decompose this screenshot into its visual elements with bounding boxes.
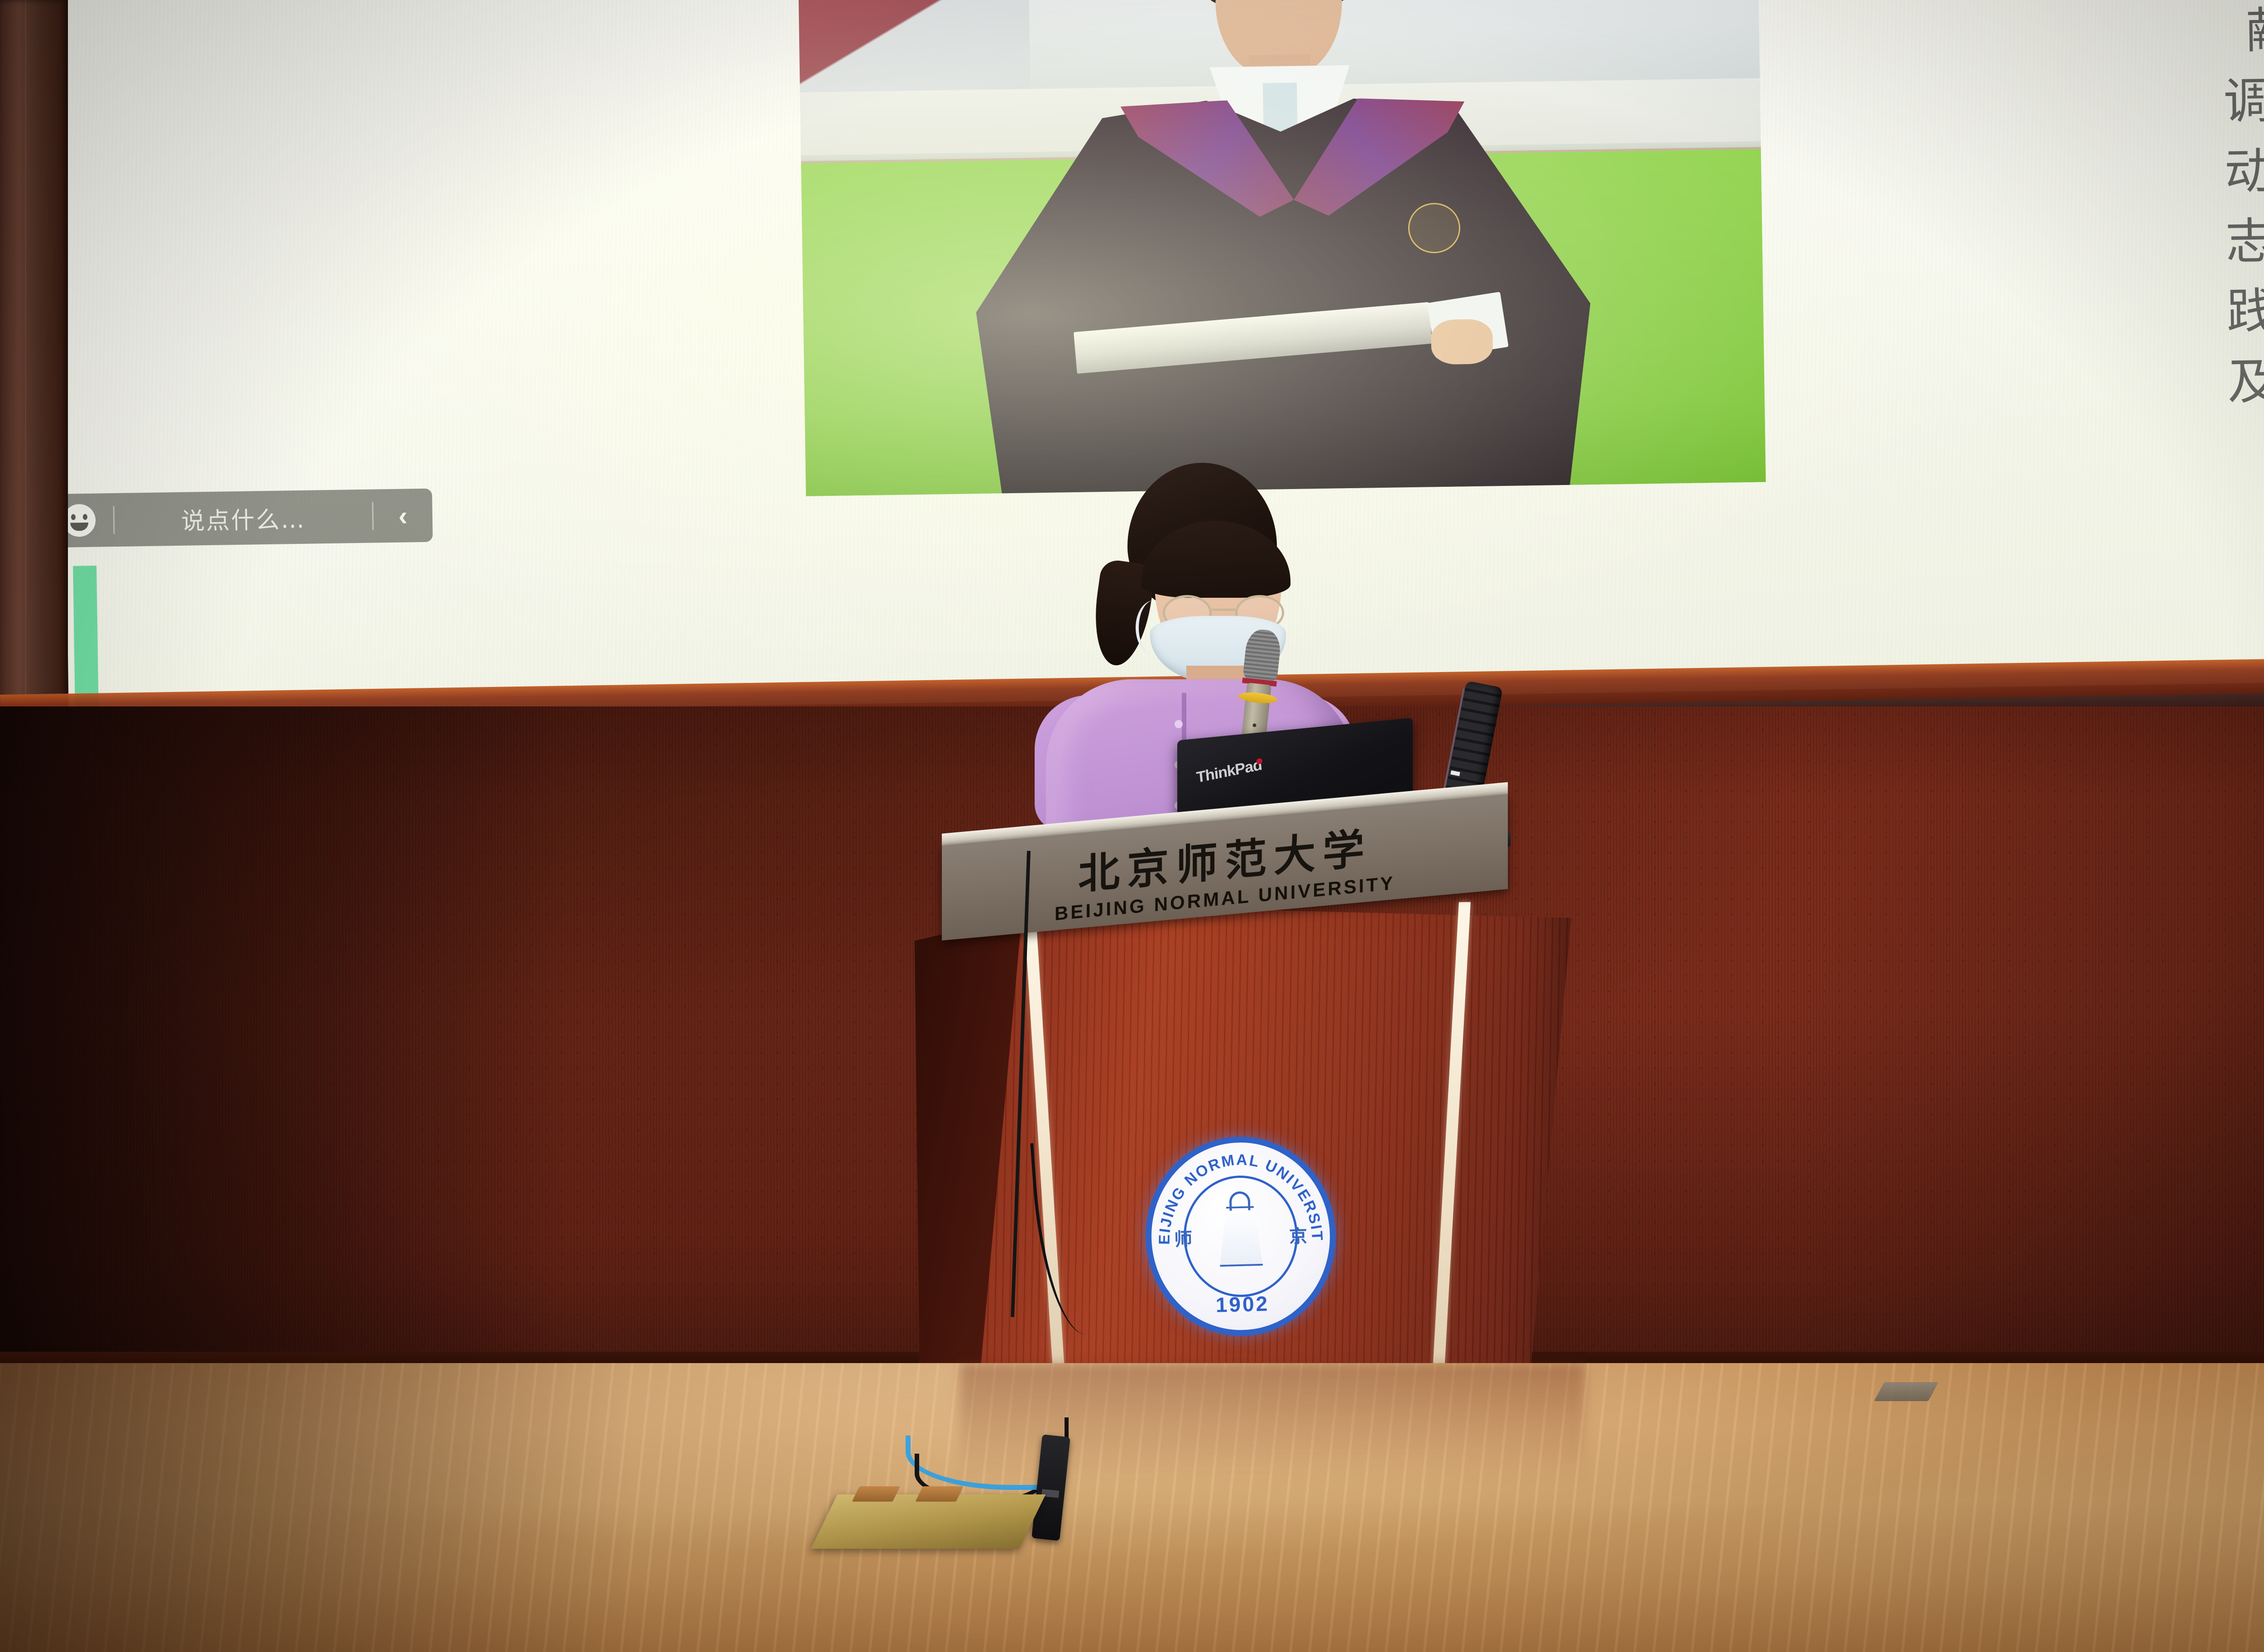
panel-left-shadow bbox=[0, 706, 566, 1368]
slide-text-line: 践经历培养 bbox=[1950, 274, 2264, 351]
slide-graduate-photo bbox=[798, 0, 1766, 496]
photo-scene: 庆七十周年 献奖”，两 调研活动及 动，曾担任 志愿者项目 践经历培养 及合作意… bbox=[0, 0, 2264, 1652]
danmu-comment-bar[interactable]: 说点什么… ‹ bbox=[45, 489, 433, 548]
seal-glyph-right: 京 bbox=[1289, 1221, 1308, 1248]
danmu-input[interactable]: 说点什么… bbox=[114, 499, 372, 537]
stage-floor bbox=[0, 1363, 2264, 1652]
floor-access-plate bbox=[1874, 1382, 1938, 1401]
seal-bell-handle bbox=[1229, 1191, 1250, 1210]
seal-founding-year: 1902 bbox=[1153, 1290, 1332, 1319]
panel-right-shadow bbox=[1799, 706, 2264, 1368]
slide-text-line: 志愿者项目 bbox=[1949, 203, 2264, 281]
slide-text-line: 献奖”，两 bbox=[1946, 0, 2264, 71]
left-wall-column bbox=[0, 0, 68, 770]
thinkpad-logo: ThinkPad bbox=[1195, 756, 1262, 787]
seal-glyph-left: 师 bbox=[1174, 1225, 1193, 1251]
university-seal: BEIJING NORMAL UNIVERSITY 师 京 1902 bbox=[1143, 1134, 1338, 1339]
slide-text-line: 调研活动及 bbox=[1947, 63, 2264, 141]
floor-left-shadow bbox=[0, 1363, 634, 1652]
brass-floor-outlet-box bbox=[811, 1494, 1046, 1549]
slide-text-block: 庆七十周年 献奖”，两 调研活动及 动，曾担任 志愿者项目 践经历培养 及合作意… bbox=[1945, 0, 2264, 422]
photo-graduate-figure bbox=[970, 0, 1593, 494]
photo-gown-crest bbox=[1408, 202, 1461, 253]
slide-text-line: 及合作意识 bbox=[1951, 344, 2264, 422]
chevron-left-icon[interactable]: ‹ bbox=[373, 499, 432, 532]
slide-text-line: 动，曾担任 bbox=[1948, 133, 2264, 211]
